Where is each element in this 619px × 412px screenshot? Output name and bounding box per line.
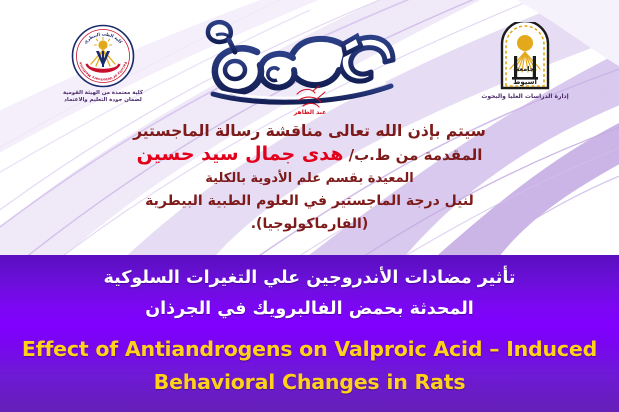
svg-text:أسيوط: أسيوط [513,77,537,86]
poster-header-area: كلية الطب البيطري Faculty of Veterinary … [0,0,619,255]
announcement-line-4: لنيل درجة الماجستير في العلوم الطبية الب… [0,190,619,213]
arabic-calligraphy-dawa-icon: عبد الظاهر [185,2,410,122]
right-logo-caption: إدارة الدراسات العليا والبحوث [450,93,600,101]
assiut-university-seal-icon: جامعة أسيوط [498,22,552,90]
thesis-title-english-line-1: Effect of Antiandrogens on Valproic Acid… [0,333,619,366]
announcement-line-5: (الفارماكولوجيا). [0,213,619,235]
announcement-line-2: المقدمة من ط.ب/ هدى جمال سيد حسين [0,142,619,168]
svg-text:جامعة: جامعة [516,65,535,73]
right-logo-block: جامعة أسيوط إدارة الدراسات العليا والبحو… [450,22,600,101]
invitation-poster: كلية الطب البيطري Faculty of Veterinary … [0,0,619,412]
thesis-title-arabic-line-1: تأثير مضادات الأندروجين علي التغيرات الس… [0,263,619,294]
announcement-line-3: المعيدة بقسم علم الأدوية بالكلية [0,168,619,190]
left-logo-block: كلية الطب البيطري Faculty of Veterinary … [28,24,178,104]
left-logo-caption-line-2: لضمان جودة التعليم والاعتماد [28,97,178,104]
announcement-line-2-prefix: المقدمة من ط.ب/ [349,146,483,164]
left-logo-caption-line-1: كلية معتمدة من الهيئة القومية [28,90,178,97]
thesis-title-arabic-line-2: المحدثة بحمض الفالبرويك في الجرذان [0,294,619,325]
announcement-text-block: سيتم بإذن الله تعالى مناقشة رسالة الماجس… [0,120,619,235]
thesis-title-arabic: تأثير مضادات الأندروجين علي التغيرات الس… [0,263,619,325]
candidate-name: هدى جمال سيد حسين [137,143,344,165]
announcement-line-1: سيتم بإذن الله تعالى مناقشة رسالة الماجس… [0,120,619,142]
veterinary-faculty-seal-icon: كلية الطب البيطري Faculty of Veterinary … [71,24,135,88]
thesis-title-english-line-2: Behavioral Changes in Rats [0,366,619,399]
calligraphy-signature-text: عبد الظاهر [293,109,326,116]
thesis-title-panel: تأثير مضادات الأندروجين علي التغيرات الس… [0,255,619,412]
thesis-title-english: Effect of Antiandrogens on Valproic Acid… [0,333,619,399]
left-logo-caption: كلية معتمدة من الهيئة القومية لضمان جودة… [28,90,178,104]
